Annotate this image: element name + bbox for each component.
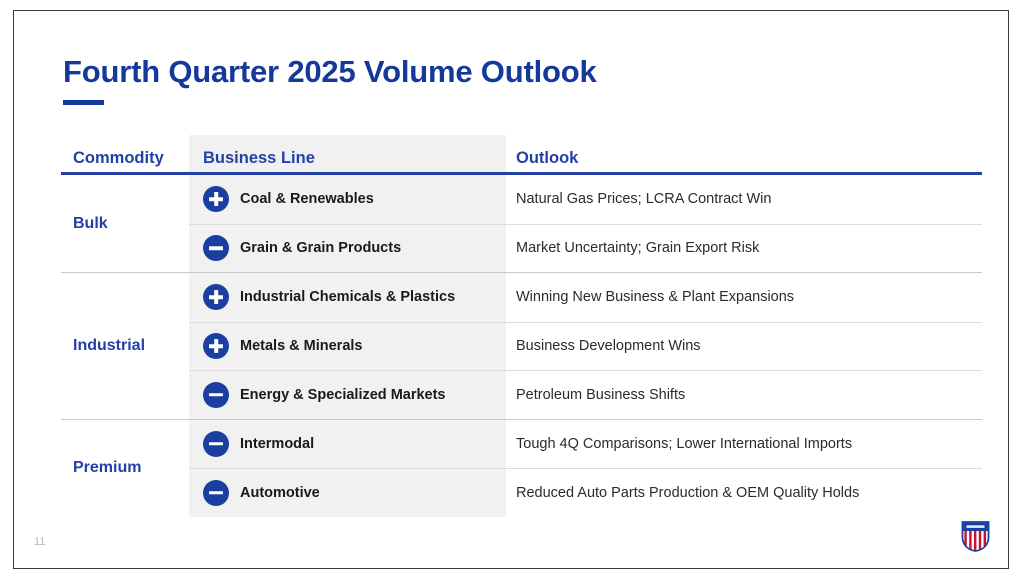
minus-icon bbox=[203, 235, 229, 261]
page-number: 11 bbox=[34, 536, 45, 548]
commodity-label: Premium bbox=[61, 420, 189, 517]
commodity-group-rows: Coal & RenewablesNatural Gas Prices; LCR… bbox=[189, 175, 982, 272]
business-line-cell: Energy & Specialized Markets bbox=[189, 370, 506, 419]
header-label-commodity: Commodity bbox=[73, 149, 164, 168]
commodity-label: Industrial bbox=[61, 273, 189, 419]
table-row: Metals & MineralsBusiness Development Wi… bbox=[189, 322, 982, 371]
outlook-cell: Winning New Business & Plant Expansions bbox=[506, 273, 982, 322]
title-accent-bar bbox=[63, 100, 104, 105]
header-cell-outlook: Outlook bbox=[506, 135, 982, 172]
outlook-label: Market Uncertainty; Grain Export Risk bbox=[516, 240, 759, 256]
table-row: IntermodalTough 4Q Comparisons; Lower In… bbox=[189, 420, 982, 469]
business-line-cell: Industrial Chemicals & Plastics bbox=[189, 273, 506, 322]
outlook-cell: Reduced Auto Parts Production & OEM Qual… bbox=[506, 468, 982, 517]
business-line-label: Industrial Chemicals & Plastics bbox=[240, 289, 455, 305]
commodity-group: PremiumIntermodalTough 4Q Comparisons; L… bbox=[61, 419, 982, 517]
minus-icon bbox=[203, 480, 229, 506]
volume-outlook-table: Commodity Business Line Outlook BulkCoal… bbox=[61, 135, 982, 517]
header-cell-business-line: Business Line bbox=[189, 135, 506, 172]
minus-icon bbox=[203, 382, 229, 408]
table-row: Energy & Specialized MarketsPetroleum Bu… bbox=[189, 370, 982, 419]
commodity-group-rows: IntermodalTough 4Q Comparisons; Lower In… bbox=[189, 420, 982, 517]
business-line-label: Coal & Renewables bbox=[240, 191, 374, 207]
table-body: BulkCoal & RenewablesNatural Gas Prices;… bbox=[61, 175, 982, 517]
outlook-label: Tough 4Q Comparisons; Lower Internationa… bbox=[516, 436, 852, 452]
commodity-group-rows: Industrial Chemicals & PlasticsWinning N… bbox=[189, 273, 982, 419]
header-cell-commodity: Commodity bbox=[61, 135, 189, 172]
commodity-label: Bulk bbox=[61, 175, 189, 272]
business-line-label: Energy & Specialized Markets bbox=[240, 387, 446, 403]
page-title: Fourth Quarter 2025 Volume Outlook bbox=[63, 56, 597, 89]
outlook-cell: Natural Gas Prices; LCRA Contract Win bbox=[506, 175, 982, 224]
header-label-outlook: Outlook bbox=[516, 149, 578, 168]
outlook-label: Winning New Business & Plant Expansions bbox=[516, 289, 794, 305]
outlook-label: Natural Gas Prices; LCRA Contract Win bbox=[516, 191, 771, 207]
business-line-label: Metals & Minerals bbox=[240, 338, 363, 354]
header-label-business-line: Business Line bbox=[203, 149, 315, 168]
business-line-label: Grain & Grain Products bbox=[240, 240, 401, 256]
table-row: Grain & Grain ProductsMarket Uncertainty… bbox=[189, 224, 982, 273]
table-row: AutomotiveReduced Auto Parts Production … bbox=[189, 468, 982, 517]
business-line-cell: Automotive bbox=[189, 468, 506, 517]
plus-icon bbox=[203, 186, 229, 212]
business-line-cell: Metals & Minerals bbox=[189, 322, 506, 371]
outlook-label: Reduced Auto Parts Production & OEM Qual… bbox=[516, 485, 859, 501]
business-line-cell: Coal & Renewables bbox=[189, 175, 506, 224]
table-header-row: Commodity Business Line Outlook bbox=[61, 135, 982, 175]
business-line-label: Intermodal bbox=[240, 436, 314, 452]
outlook-cell: Petroleum Business Shifts bbox=[506, 370, 982, 419]
commodity-group: IndustrialIndustrial Chemicals & Plastic… bbox=[61, 272, 982, 419]
union-pacific-shield-logo bbox=[961, 520, 990, 552]
outlook-cell: Market Uncertainty; Grain Export Risk bbox=[506, 224, 982, 273]
outlook-cell: Tough 4Q Comparisons; Lower Internationa… bbox=[506, 420, 982, 469]
table-row: Coal & RenewablesNatural Gas Prices; LCR… bbox=[189, 175, 982, 224]
table-row: Industrial Chemicals & PlasticsWinning N… bbox=[189, 273, 982, 322]
outlook-label: Business Development Wins bbox=[516, 338, 701, 354]
plus-icon bbox=[203, 284, 229, 310]
business-line-cell: Intermodal bbox=[189, 420, 506, 469]
title-block: Fourth Quarter 2025 Volume Outlook bbox=[63, 56, 597, 105]
business-line-cell: Grain & Grain Products bbox=[189, 224, 506, 273]
outlook-label: Petroleum Business Shifts bbox=[516, 387, 685, 403]
business-line-label: Automotive bbox=[240, 485, 320, 501]
slide-canvas: Fourth Quarter 2025 Volume Outlook Commo… bbox=[13, 10, 1009, 569]
outlook-cell: Business Development Wins bbox=[506, 322, 982, 371]
minus-icon bbox=[203, 431, 229, 457]
plus-icon bbox=[203, 333, 229, 359]
commodity-group: BulkCoal & RenewablesNatural Gas Prices;… bbox=[61, 175, 982, 272]
